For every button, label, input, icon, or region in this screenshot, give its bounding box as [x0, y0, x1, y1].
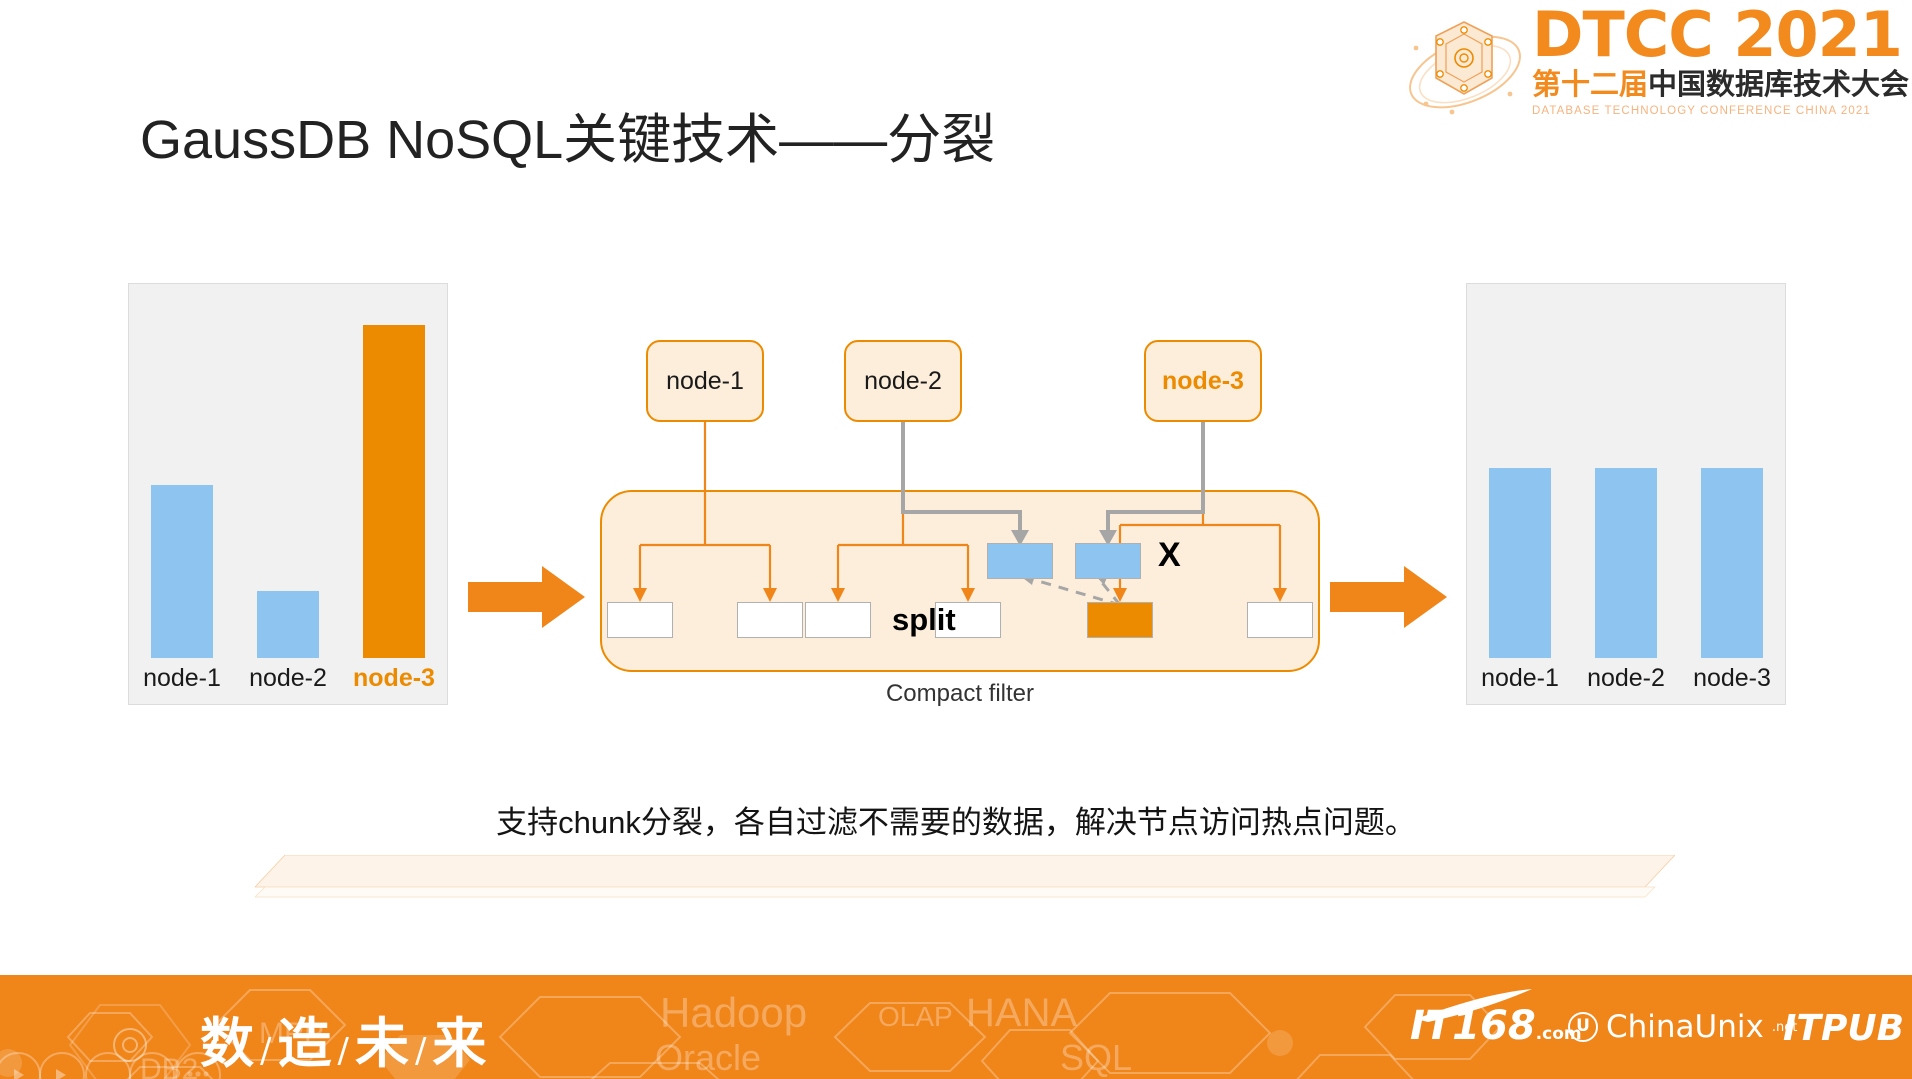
split-label: split — [892, 602, 956, 638]
chunk-migrated-a — [987, 543, 1053, 579]
partner-logo-it168[interactable]: IT168.com — [1410, 1003, 1582, 1049]
diagram-node-1: node-1 — [646, 340, 764, 422]
split-diagram: node-1 node-2 node-3 — [600, 340, 1320, 720]
dtcc-logo: DTCC 2021 第十二届中国数据库技术大会 DATABASE TECHNOL… — [1402, 4, 1902, 134]
logo-cn-black: 中国数据库技术大会 — [1648, 69, 1909, 101]
diagram-node-2-label: node-2 — [864, 367, 942, 396]
chinaunix-mark-icon: U — [1568, 1012, 1598, 1042]
slogan-char-1: 数 — [200, 1012, 256, 1075]
bar-label-node-1: node-1 — [139, 664, 225, 693]
diagram-node-3: node-3 — [1144, 340, 1262, 422]
slogan-char-4: 来 — [432, 1012, 488, 1075]
footer-bar: Hadoop OLAP HANA Oracle MPP DB2 SQL 数/造/… — [0, 975, 1912, 1079]
bar-after-label-node-3: node-3 — [1689, 664, 1775, 693]
chart-before-labels: node-1 node-2 node-3 — [129, 660, 447, 696]
decorative-band — [255, 855, 1675, 900]
bar-after-label-node-2: node-2 — [1583, 664, 1669, 693]
slogan-sep-1: / — [256, 1031, 277, 1071]
diagram-node-2: node-2 — [844, 340, 962, 422]
footer-keyword-olap: OLAP — [878, 1001, 953, 1033]
slogan-char-3: 未 — [355, 1012, 411, 1075]
chart-before-bars — [129, 292, 447, 658]
chart-after-split: node-1 node-2 node-3 — [1466, 283, 1786, 705]
bar-node-1 — [151, 485, 213, 658]
bar-node-3 — [363, 325, 425, 658]
footer-keyword-oracle: Oracle — [655, 1037, 761, 1079]
chunk-hot-split — [1087, 602, 1153, 638]
chunk-migrated-b — [1075, 543, 1141, 579]
slogan-sep-2: / — [333, 1031, 354, 1071]
footer-keyword-sql: SQL — [1060, 1037, 1132, 1079]
chunk-n2-a — [805, 602, 871, 638]
diagram-node-3-label: node-3 — [1162, 367, 1244, 396]
flow-arrow-left — [468, 566, 585, 628]
partner-logo-itpub[interactable]: ITPUB — [1783, 1008, 1904, 1049]
slogan-sep-3: / — [411, 1031, 432, 1071]
footer-keyword-hana: HANA — [966, 991, 1077, 1036]
bar-label-node-3: node-3 — [351, 664, 437, 693]
diagram-node-1-label: node-1 — [666, 367, 744, 396]
bar-after-label-node-1: node-1 — [1477, 664, 1563, 693]
bar-after-node-1 — [1489, 468, 1551, 658]
chart-before-split: node-1 node-2 node-3 — [128, 283, 448, 705]
compact-filter-container — [600, 490, 1320, 672]
chunk-n1-a — [607, 602, 673, 638]
chunk-n3-b — [1247, 602, 1313, 638]
logo-cn-orange: 第十二届 — [1532, 69, 1648, 101]
compact-filter-label: Compact filter — [600, 680, 1320, 708]
bar-label-node-2: node-2 — [245, 664, 331, 693]
slide-caption: 支持chunk分裂，各自过滤不需要的数据，解决节点访问热点问题。 — [0, 797, 1912, 842]
dtcc-logo-text: DTCC 2021 第十二届中国数据库技术大会 DATABASE TECHNOL… — [1532, 4, 1902, 134]
chart-after-labels: node-1 node-2 node-3 — [1467, 660, 1785, 696]
footer-keyword-db2: DB2 — [140, 1053, 198, 1079]
x-marker-label: X — [1158, 536, 1181, 575]
partner-itpub-name: ITPUB — [1783, 1008, 1904, 1049]
logo-dtcc-word: DTCC 2021 — [1532, 0, 1902, 71]
dtcc-emblem-icon — [1402, 8, 1532, 128]
bar-after-node-3 — [1701, 468, 1763, 658]
partner-chinaunix-name: ChinaUnix — [1606, 1009, 1764, 1045]
bar-node-2 — [257, 591, 319, 658]
chunk-n1-b — [737, 602, 803, 638]
page-title: GaussDB NoSQL关键技术——分裂 — [140, 95, 995, 174]
chart-after-bars — [1467, 292, 1785, 658]
logo-en-subtitle: DATABASE TECHNOLOGY CONFERENCE CHINA 202… — [1532, 105, 1902, 117]
slogan-char-2: 造 — [277, 1012, 333, 1075]
footer-keyword-hadoop: Hadoop — [660, 989, 807, 1037]
bar-after-node-2 — [1595, 468, 1657, 658]
footer-slogan: 数/造/未/来 — [200, 999, 488, 1078]
partner-logo-chinaunix[interactable]: UChinaUnix.net — [1568, 1009, 1797, 1045]
flow-arrow-right — [1330, 566, 1447, 628]
